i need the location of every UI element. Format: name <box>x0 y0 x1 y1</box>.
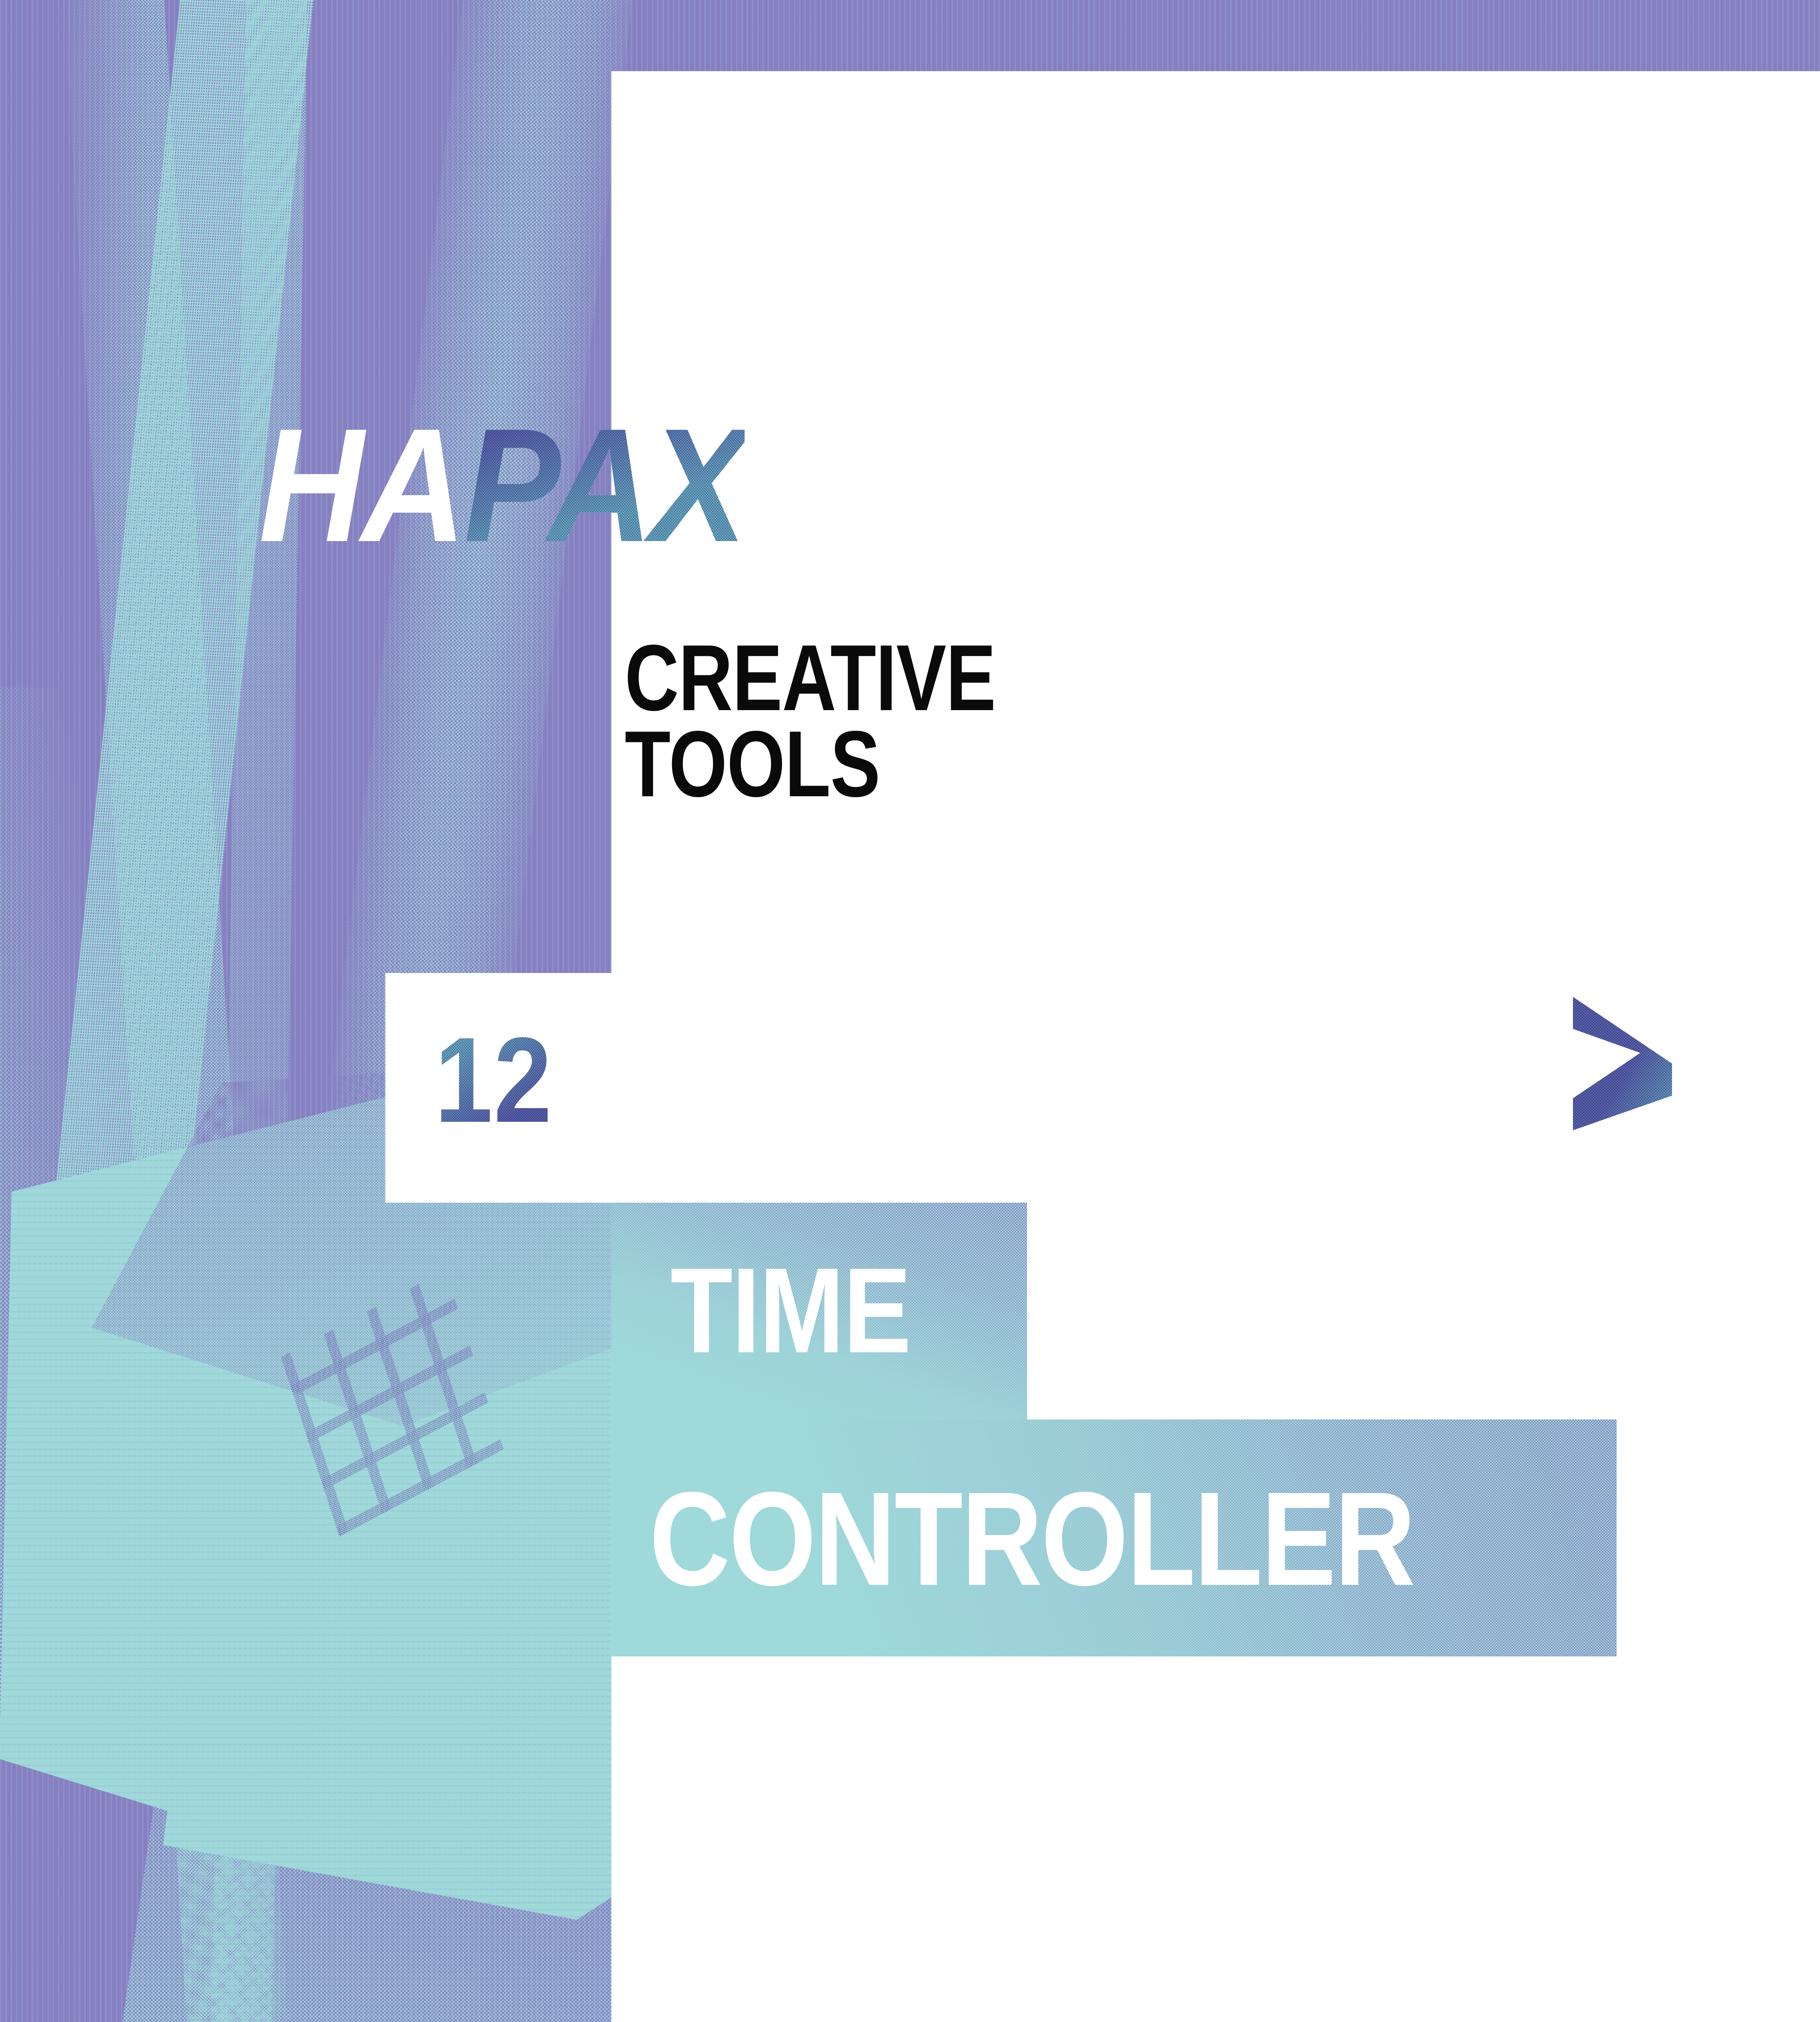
headline-line-1: CREATIVE <box>625 635 996 721</box>
white-panel-bottom <box>611 1656 1820 2022</box>
band-label-controller: CONTROLLER <box>649 1472 1414 1605</box>
page-title: CREATIVE TOOLS <box>625 635 996 808</box>
band-label-time: TIME <box>670 1250 911 1371</box>
headline-line-2: TOOLS <box>625 721 996 807</box>
brand-wordmark-white-part: HA <box>259 395 464 575</box>
white-panel-right <box>1027 1203 1820 1419</box>
issue-number: 12 <box>435 1019 553 1140</box>
white-panel-far <box>1617 1419 1820 1656</box>
brand-wordmark: HAPAX <box>259 404 799 574</box>
poster-canvas: HAPAX CREATIVE TOOLS 12 TIME CONTROLLER <box>0 0 1820 2022</box>
brand-wordmark-dither-part: PAX <box>464 395 744 575</box>
